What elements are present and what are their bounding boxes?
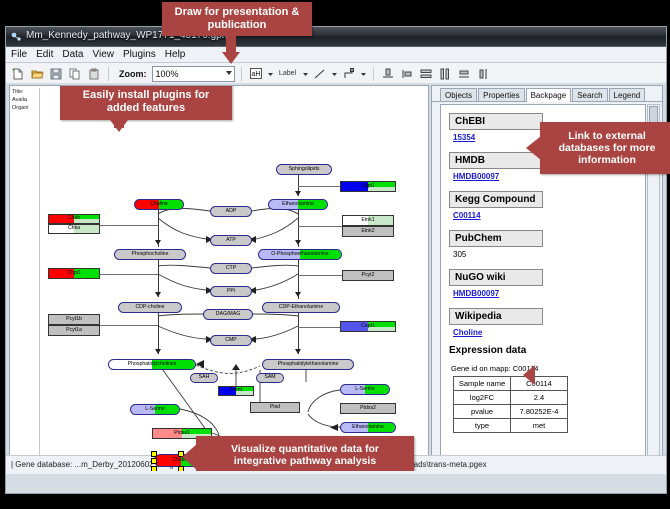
screenshot-root: Mm_Kennedy_pathway_WP1771_45176.gpml Fil… bbox=[0, 0, 670, 509]
node-label: Choline bbox=[150, 202, 168, 207]
metabolite-node[interactable]: Choline bbox=[134, 199, 184, 210]
section-header-pubchem: PubChem bbox=[449, 230, 543, 247]
same-height-icon[interactable] bbox=[475, 66, 491, 82]
section-header-kegg: Kegg Compound bbox=[449, 191, 543, 208]
row-key: type bbox=[454, 419, 511, 433]
node-label: CDP-choline bbox=[135, 305, 164, 310]
callout-plugins-tail-stem bbox=[114, 120, 124, 128]
tab-properties[interactable]: Properties bbox=[478, 88, 524, 101]
callout-plugins: Easily install plugins for added feature… bbox=[60, 85, 232, 120]
metabolite-node[interactable]: CDP-choline bbox=[118, 302, 182, 313]
metabolite-node[interactable]: L-Serine bbox=[340, 384, 390, 395]
metabolite-node[interactable]: O-Phosphoethanolamine bbox=[258, 249, 342, 260]
toolbar-separator-1 bbox=[108, 67, 109, 81]
save-icon[interactable] bbox=[48, 66, 64, 82]
pathway-canvas[interactable]: Title: Availa Organi bbox=[9, 85, 429, 472]
gene-node[interactable]: Pisd bbox=[250, 402, 300, 413]
chevron-down-icon[interactable] bbox=[331, 66, 338, 82]
metabolite-node[interactable]: SAH bbox=[190, 373, 218, 383]
callout-draw-stem bbox=[226, 36, 236, 52]
gene-id-line: Gene id on mapp: C00114 bbox=[451, 364, 645, 373]
menu-item-edit[interactable]: Edit bbox=[36, 49, 53, 60]
chevron-down-icon[interactable] bbox=[267, 66, 274, 82]
node-label: Chpt1 bbox=[67, 271, 81, 276]
metabolite-node[interactable]: DAG/MAG bbox=[203, 309, 253, 320]
metabolite-node[interactable]: Phosphatidylcholines bbox=[108, 359, 196, 370]
row-value: 2.4 bbox=[511, 391, 568, 405]
row-value: C00114 bbox=[511, 377, 568, 391]
metabolite-node[interactable]: L-Serine bbox=[130, 404, 180, 415]
tab-search[interactable]: Search bbox=[572, 88, 607, 101]
table-row: pvalue 7.80252E-4 bbox=[454, 405, 568, 419]
callout-links-text: Link to external databases for more info… bbox=[546, 130, 668, 166]
open-folder-icon[interactable] bbox=[29, 66, 45, 82]
node-label: SAH bbox=[199, 375, 210, 380]
zoom-value: 100% bbox=[156, 69, 179, 79]
distribute-horizontal-icon[interactable] bbox=[437, 66, 453, 82]
node-label: PPi bbox=[227, 289, 235, 294]
gene-node[interactable]: Etnk2 bbox=[342, 226, 394, 237]
metabolite-node[interactable]: CMP bbox=[210, 335, 252, 346]
gene-node[interactable]: Chpt1 bbox=[48, 268, 100, 279]
node-label: Etnk1 bbox=[361, 218, 374, 223]
table-row: log2FC 2.4 bbox=[454, 391, 568, 405]
node-label: Ethanolamine bbox=[352, 425, 384, 430]
callout-links: Link to external databases for more info… bbox=[540, 122, 670, 174]
chevron-down-icon bbox=[226, 71, 232, 75]
node-label: CMP bbox=[225, 338, 237, 343]
metabolite-node[interactable]: SAM bbox=[256, 373, 284, 383]
table-row: Sample name C00114 bbox=[454, 377, 568, 391]
gene-node[interactable]: Ptdss2 bbox=[340, 403, 396, 414]
paste-icon[interactable] bbox=[86, 66, 102, 82]
copy-icon[interactable] bbox=[67, 66, 83, 82]
selection-handle[interactable] bbox=[151, 451, 157, 457]
node-label: DAG/MAG bbox=[216, 312, 241, 317]
node-label: Pcyt1a bbox=[66, 328, 82, 333]
callout-draw-tail bbox=[222, 52, 240, 64]
menu-item-file[interactable]: File bbox=[11, 49, 27, 60]
node-label: Etnk2 bbox=[361, 229, 374, 234]
side-panel-tabs[interactable]: Objects Properties Backpage Search Legen… bbox=[432, 86, 662, 102]
title-bar: Mm_Kennedy_pathway_WP1771_45176.gpml bbox=[6, 27, 666, 47]
label-dropdown-label: Label bbox=[279, 70, 296, 77]
wikipedia-link[interactable]: Choline bbox=[453, 328, 645, 337]
menu-item-plugins[interactable]: Plugins bbox=[123, 49, 156, 60]
toolbar-separator-2 bbox=[241, 67, 242, 81]
expression-table: Sample name C00114 log2FC 2.4 pvalue 7.8… bbox=[453, 376, 568, 433]
new-file-icon[interactable] bbox=[10, 66, 26, 82]
node-label: SAM bbox=[264, 375, 275, 380]
metabolite-node[interactable]: ATP bbox=[210, 235, 252, 246]
tab-objects[interactable]: Objects bbox=[440, 88, 477, 101]
zoom-label: Zoom: bbox=[119, 69, 147, 79]
metabolite-node[interactable]: CTP bbox=[210, 263, 252, 274]
row-value: met bbox=[511, 419, 568, 433]
selection-handle[interactable] bbox=[151, 458, 157, 464]
table-row: type met bbox=[454, 419, 568, 433]
callout-links-stem bbox=[523, 365, 535, 385]
callout-visualize-tail bbox=[182, 444, 197, 470]
section-header-chebi: ChEBI bbox=[449, 113, 543, 130]
toolbar-separator-3 bbox=[373, 67, 374, 81]
zoom-combo[interactable]: 100% bbox=[152, 66, 235, 82]
node-label: CDP-Ethanolamine bbox=[279, 305, 323, 310]
metabolite-node[interactable]: Phosphocholine bbox=[114, 249, 186, 260]
menu-item-view[interactable]: View bbox=[92, 49, 114, 60]
row-key: log2FC bbox=[454, 391, 511, 405]
node-label: Pcyt1b bbox=[66, 317, 82, 322]
metabolite-node[interactable]: PPi bbox=[210, 286, 252, 297]
svg-text:aH: aH bbox=[251, 71, 260, 78]
node-label: Chkb bbox=[68, 216, 80, 221]
node-label: Ethanolamine bbox=[282, 202, 314, 207]
gene-node[interactable]: Pcyt2 bbox=[342, 270, 394, 281]
node-label: Pisd bbox=[270, 405, 280, 410]
gene-node[interactable]: Pemt bbox=[218, 386, 254, 396]
section-header-wikipedia: Wikipedia bbox=[449, 308, 543, 325]
same-width-icon[interactable] bbox=[456, 66, 472, 82]
callout-visualize-text: Visualize quantitative data for integrat… bbox=[204, 443, 406, 467]
row-value: 7.80252E-4 bbox=[511, 405, 568, 419]
metabolite-node[interactable]: Ethanolamine bbox=[268, 199, 328, 210]
align-top-icon[interactable] bbox=[380, 66, 396, 82]
node-label: Pcyt2 bbox=[362, 273, 375, 278]
node-label: O-Phosphoethanolamine bbox=[271, 252, 328, 257]
gene-node[interactable]: Pcyt1a bbox=[48, 325, 100, 336]
pathvisio-icon bbox=[11, 31, 22, 42]
section-header-nugo: NuGO wiki bbox=[449, 269, 543, 286]
callout-draw: Draw for presentation & publication bbox=[162, 2, 312, 36]
pathvisio-window: Mm_Kennedy_pathway_WP1771_45176.gpml Fil… bbox=[5, 26, 667, 494]
align-left-icon[interactable] bbox=[399, 66, 415, 82]
node-label: L-Serine bbox=[145, 407, 165, 412]
row-key: pvalue bbox=[454, 405, 511, 419]
gene-node[interactable]: Chka bbox=[48, 224, 100, 234]
kegg-link[interactable]: C00114 bbox=[453, 211, 645, 220]
menu-bar[interactable]: File Edit Data View Plugins Help bbox=[6, 47, 666, 63]
node-label: Phosphatidylethanolamine bbox=[278, 362, 339, 367]
chevron-down-icon[interactable] bbox=[302, 66, 309, 82]
node-label: Chka bbox=[68, 226, 80, 231]
node-label: ATP bbox=[226, 238, 236, 243]
menu-item-data[interactable]: Data bbox=[62, 49, 83, 60]
tab-backpage[interactable]: Backpage bbox=[526, 88, 572, 102]
metabolite-node[interactable]: CDP-Ethanolamine bbox=[262, 302, 340, 313]
expression-data-title: Expression data bbox=[449, 345, 645, 356]
row-key: Sample name bbox=[454, 377, 511, 391]
pubchem-value: 305 bbox=[453, 250, 645, 259]
callout-draw-text: Draw for presentation & publication bbox=[168, 6, 306, 31]
node-label: Phosphocholine bbox=[132, 252, 169, 257]
gene-node[interactable]: Pcyt1b bbox=[48, 314, 100, 325]
callout-visualize: Visualize quantitative data for integrat… bbox=[196, 436, 414, 472]
distribute-vertical-icon[interactable] bbox=[418, 66, 434, 82]
metabolite-node[interactable]: ADP bbox=[210, 206, 252, 217]
node-label: Ptdss2 bbox=[360, 406, 376, 411]
chevron-down-icon[interactable] bbox=[360, 66, 367, 82]
menu-item-help[interactable]: Help bbox=[165, 49, 186, 60]
metabolite-node[interactable]: Phosphatidylethanolamine bbox=[262, 359, 354, 370]
gene-node[interactable]: Etnk1 bbox=[342, 215, 394, 226]
node-label: ADP bbox=[226, 209, 237, 214]
callout-plugins-text: Easily install plugins for added feature… bbox=[66, 89, 226, 114]
text-format-icon[interactable]: aH bbox=[248, 66, 264, 82]
nugo-link[interactable]: HMDB00097 bbox=[453, 289, 645, 298]
line-tool-icon[interactable] bbox=[312, 66, 328, 82]
gene-node[interactable]: Cept1 bbox=[340, 321, 396, 332]
node-label: Pemt bbox=[230, 388, 242, 393]
metabolite-node[interactable]: Sphingolipids bbox=[276, 164, 332, 175]
metabolite-node[interactable]: Ethanolamine bbox=[340, 422, 396, 433]
connector-tool-icon[interactable] bbox=[341, 66, 357, 82]
tool-bar[interactable]: Zoom: 100% aH Label bbox=[6, 63, 666, 85]
callout-links-tail bbox=[526, 136, 541, 160]
node-label: Phosphatidylcholines bbox=[128, 362, 177, 367]
node-label: Ptdss1 bbox=[174, 431, 190, 436]
node-label: CTP bbox=[226, 266, 236, 271]
node-label: Sphingolipids bbox=[289, 167, 320, 172]
gene-node[interactable]: Chkb bbox=[48, 214, 100, 224]
node-label: Sgpl1 bbox=[361, 184, 374, 189]
node-label: L-Serine bbox=[355, 387, 375, 392]
tab-legend[interactable]: Legend bbox=[609, 88, 646, 101]
node-label: Cept1 bbox=[361, 324, 375, 329]
gene-node[interactable]: Sgpl1 bbox=[340, 181, 396, 192]
